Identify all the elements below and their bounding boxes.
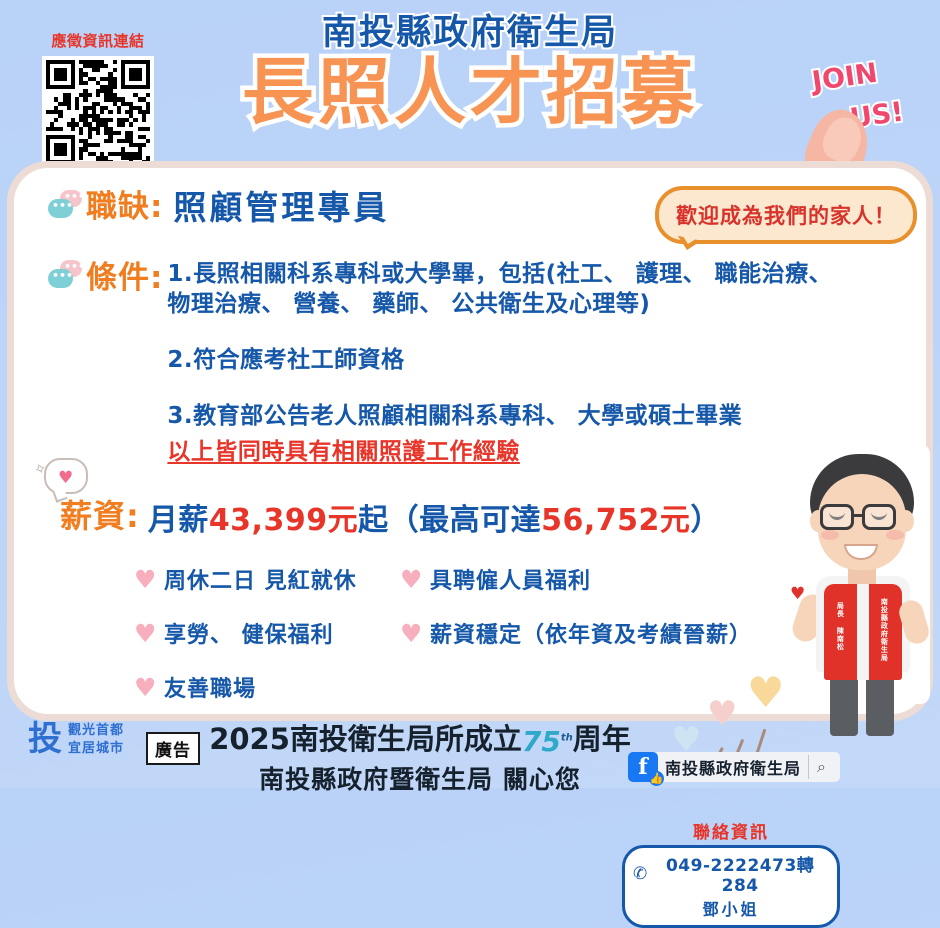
qr-label: 應徵資訊連結	[32, 30, 164, 51]
facebook-page-name[interactable]: 南投縣政府衛生局	[658, 755, 809, 779]
job-row: •••••• 職缺: 照顧管理專員	[46, 190, 389, 226]
salary-value: 月薪43,399元起（最高可達56,752元）	[148, 495, 721, 539]
search-icon[interactable]: ⌕	[809, 757, 834, 777]
salary-label: 薪資:	[60, 499, 140, 534]
heart-icon: ♥	[134, 567, 164, 592]
conditions-list: 1.長照相關科系專科或大學畢，包括(社工、 護理、 職能治療、 物理治療、 營養…	[167, 260, 832, 466]
contact-phone[interactable]: 049-2222473轉284	[651, 851, 829, 896]
conditions-label: 條件:	[86, 260, 163, 295]
salary-max: 56,752元	[541, 503, 690, 538]
vest-title-label: 局長 陳南松	[836, 602, 844, 651]
qr-block: 應徵資訊連結	[32, 30, 164, 168]
logo-mark: 投	[28, 724, 62, 755]
qr-code-icon[interactable]	[42, 56, 154, 168]
vest-org-label: 南投縣政府衛生局	[880, 598, 888, 662]
welcome-text: 歡迎成為我們的家人！	[676, 200, 896, 230]
contact-title: 聯絡資訊	[622, 818, 840, 843]
footer-subtitle: 南投縣政府暨衛生局 關心您	[190, 760, 650, 796]
benefit-item: ♥ 周休二日 見紅就休	[134, 563, 357, 595]
anniversary-title-pre: 2025南投衛生局所成立	[209, 722, 522, 756]
logo-slogan: 觀光首都 宜居城市	[68, 722, 124, 757]
anniversary-title-post: 周年	[573, 722, 631, 756]
salary-min: 43,399元	[209, 503, 358, 538]
anniversary-title: 2025南投衛生局所成立75th周年	[190, 716, 650, 758]
conditions-note: 以上皆同時具有相關照護工作經驗	[167, 432, 832, 466]
benefit-label: 享勞、 健保福利	[164, 617, 334, 649]
heart-icon: ♥	[134, 675, 164, 700]
benefit-label: 友善職場	[164, 671, 256, 703]
salary-row: 薪資: 月薪43,399元起（最高可達56,752元）	[60, 495, 721, 539]
condition-item: 3.教育部公告老人照顧相關科系專科、 大學或碩士畢業	[167, 402, 832, 432]
heart-icon: ♥	[400, 567, 430, 592]
contact-block: 聯絡資訊 ✆ 049-2222473轉284 鄧小姐	[622, 818, 840, 928]
benefit-item: ♥ 薪資穩定（依年資及考績晉薪）	[400, 617, 752, 649]
footer-main: 2025南投衛生局所成立75th周年 南投縣政府暨衛生局 關心您	[190, 716, 650, 796]
speech-bubble-icon: ••••••	[46, 260, 86, 290]
official-character-illustration: ♥ 局長 陳南松 南投縣政府衛生局	[786, 444, 940, 744]
county-logo: 投 觀光首都 宜居城市	[28, 722, 124, 757]
benefit-label: 薪資穩定（依年資及考績晉薪）	[430, 617, 752, 649]
anniversary-number: 75	[522, 725, 561, 758]
heart-bubble-icon: ♥	[44, 458, 88, 494]
contact-pill[interactable]: ✆ 049-2222473轉284 鄧小姐	[622, 845, 840, 928]
heart-icon: ♥	[790, 584, 805, 604]
condition-item: 2.符合應考社工師資格	[167, 346, 832, 376]
facebook-icon: f	[628, 752, 658, 782]
job-label: 職缺:	[86, 190, 163, 224]
benefit-item: ♥ 具聘僱人員福利	[400, 563, 752, 595]
job-value: 照顧管理專員	[173, 190, 389, 226]
join-us-badge: JOIN US!	[802, 62, 922, 182]
heart-icon: ♥	[747, 668, 785, 717]
phone-icon: ✆	[633, 864, 647, 884]
benefit-label: 周休二日 見紅就休	[164, 563, 357, 595]
footer: 投 觀光首都 宜居城市 廣告 2025南投衛生局所成立75th周年 南投縣政府暨…	[0, 716, 940, 788]
heart-icon: ♥	[134, 621, 164, 646]
logo-slogan-line2: 宜居城市	[68, 741, 124, 756]
benefit-item: ♥ 享勞、 健保福利	[134, 617, 357, 649]
speech-bubble-icon: ••••••	[46, 190, 86, 220]
salary-mid: 起（最高可達	[358, 503, 541, 538]
condition-item: 1.長照相關科系專科或大學畢，包括(社工、 護理、 職能治療、 物理治療、 營養…	[167, 260, 832, 320]
conditions-row: •••••• 條件: 1.長照相關科系專科或大學畢，包括(社工、 護理、 職能治…	[46, 260, 832, 466]
logo-slogan-line1: 觀光首都	[68, 723, 124, 738]
benefit-item: ♥ 友善職場	[134, 671, 357, 703]
contact-person: 鄧小姐	[633, 896, 829, 920]
anniversary-suffix: th	[561, 733, 573, 744]
benefit-label: 具聘僱人員福利	[430, 563, 591, 595]
salary-prefix: 月薪	[148, 503, 209, 538]
welcome-bubble: 歡迎成為我們的家人！	[655, 186, 917, 244]
salary-suffix: ）	[690, 503, 721, 538]
heart-icon: ♥	[400, 621, 430, 646]
facebook-badge[interactable]: f 南投縣政府衛生局 ⌕	[628, 752, 840, 782]
join-us-line1: JOIN	[810, 58, 879, 98]
anniversary-emblem: 75th	[522, 725, 573, 758]
glasses-icon	[820, 504, 854, 530]
glasses-icon	[862, 504, 896, 530]
